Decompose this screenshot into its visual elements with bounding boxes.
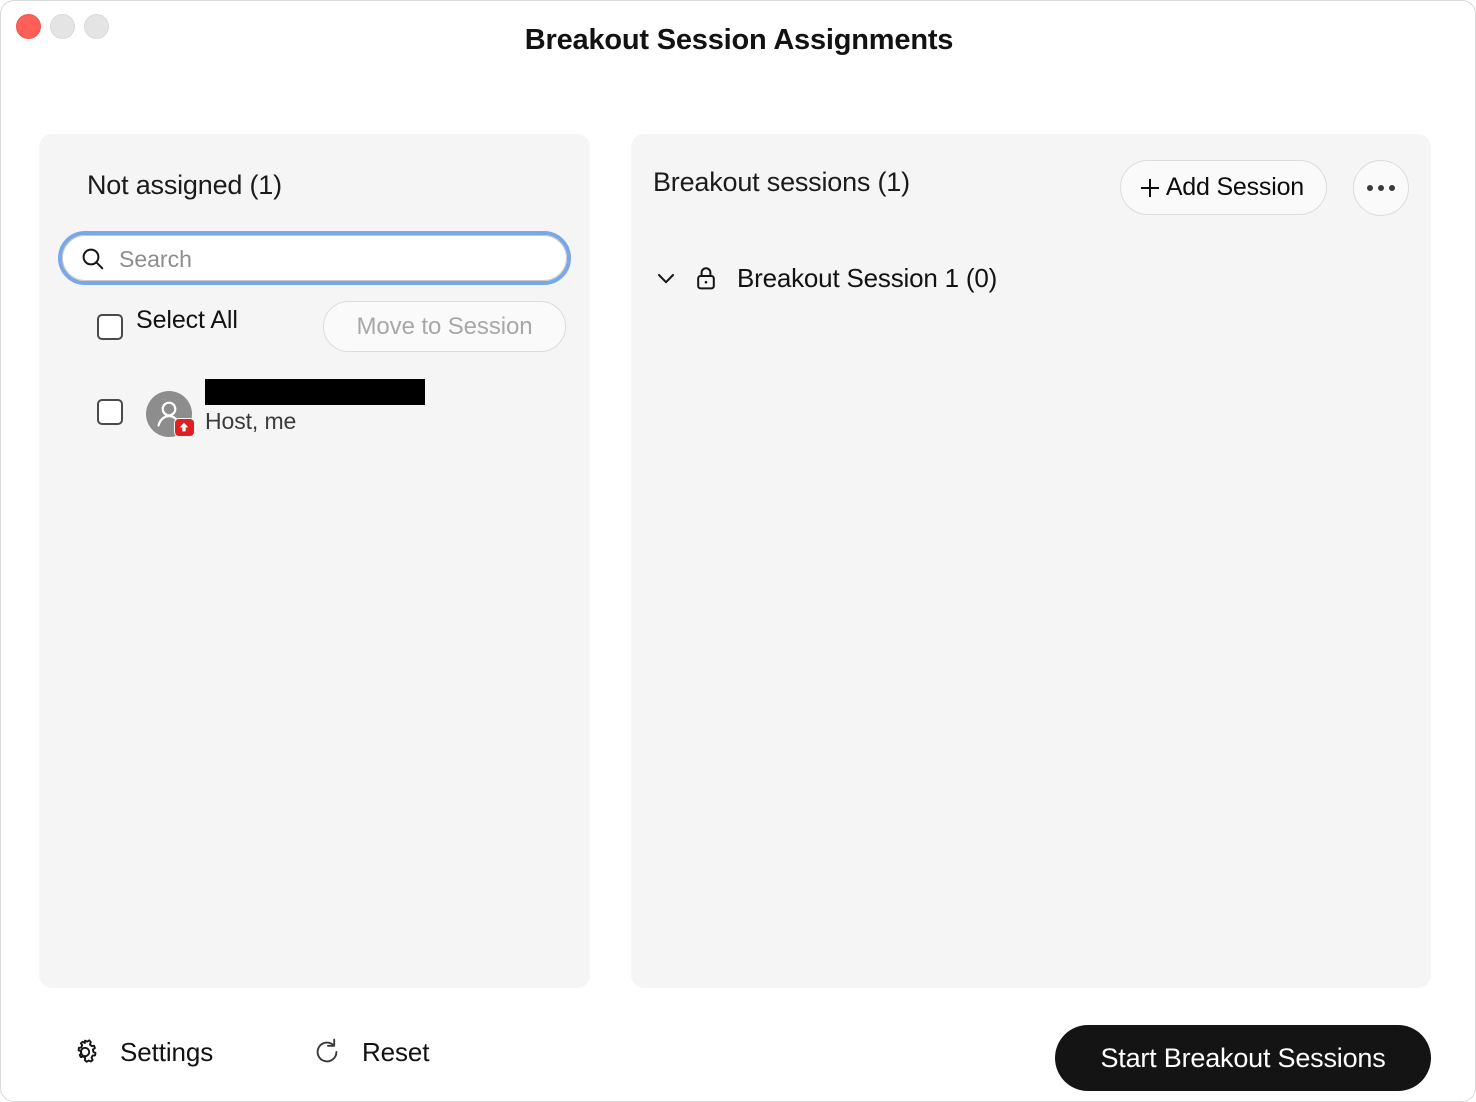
refresh-icon	[311, 1036, 343, 1068]
add-session-label: Add Session	[1166, 173, 1304, 202]
arrow-up-icon	[174, 418, 195, 437]
ellipsis-icon	[1378, 185, 1384, 191]
reset-button[interactable]: Reset	[311, 1036, 429, 1068]
avatar	[146, 391, 192, 437]
sessions-panel: Breakout sessions (1) Add Session	[631, 134, 1431, 988]
search-field[interactable]	[62, 235, 567, 281]
reset-label: Reset	[362, 1037, 429, 1068]
participant-name-redacted	[205, 379, 425, 405]
breakout-sessions-window: Breakout Session Assignments Not assigne…	[0, 0, 1476, 1102]
unassigned-heading: Not assigned (1)	[87, 170, 282, 201]
add-session-button[interactable]: Add Session	[1120, 160, 1327, 215]
page-title: Breakout Session Assignments	[1, 24, 1476, 57]
settings-button[interactable]: Settings	[69, 1036, 213, 1068]
start-breakout-sessions-button[interactable]: Start Breakout Sessions	[1055, 1025, 1431, 1091]
session-name: Breakout Session 1 (0)	[737, 263, 997, 294]
move-to-session-button[interactable]: Move to Session	[323, 301, 566, 352]
lock-icon	[693, 264, 719, 292]
ellipsis-icon	[1389, 185, 1395, 191]
settings-label: Settings	[120, 1037, 213, 1068]
select-all-row: Select All Move to Session	[39, 299, 590, 355]
window-titlebar: Breakout Session Assignments	[1, 1, 1476, 87]
select-all-checkbox[interactable]	[97, 314, 123, 340]
sessions-heading: Breakout sessions (1)	[653, 167, 910, 198]
list-item[interactable]: Host, me	[39, 374, 590, 450]
chevron-down-icon[interactable]	[653, 265, 679, 291]
gear-icon	[69, 1036, 101, 1068]
search-icon	[82, 248, 104, 270]
list-item[interactable]: Breakout Session 1 (0)	[631, 252, 1431, 304]
ellipsis-icon	[1367, 185, 1373, 191]
search-field-focus-ring	[58, 231, 571, 285]
participant-role: Host, me	[205, 408, 296, 435]
unassigned-panel: Not assigned (1) Select All Move to Sess…	[39, 134, 590, 988]
search-input[interactable]	[117, 236, 551, 282]
plus-icon	[1137, 175, 1163, 201]
select-all-label: Select All	[136, 306, 238, 335]
participant-checkbox[interactable]	[97, 399, 123, 425]
more-options-button[interactable]	[1353, 160, 1409, 216]
